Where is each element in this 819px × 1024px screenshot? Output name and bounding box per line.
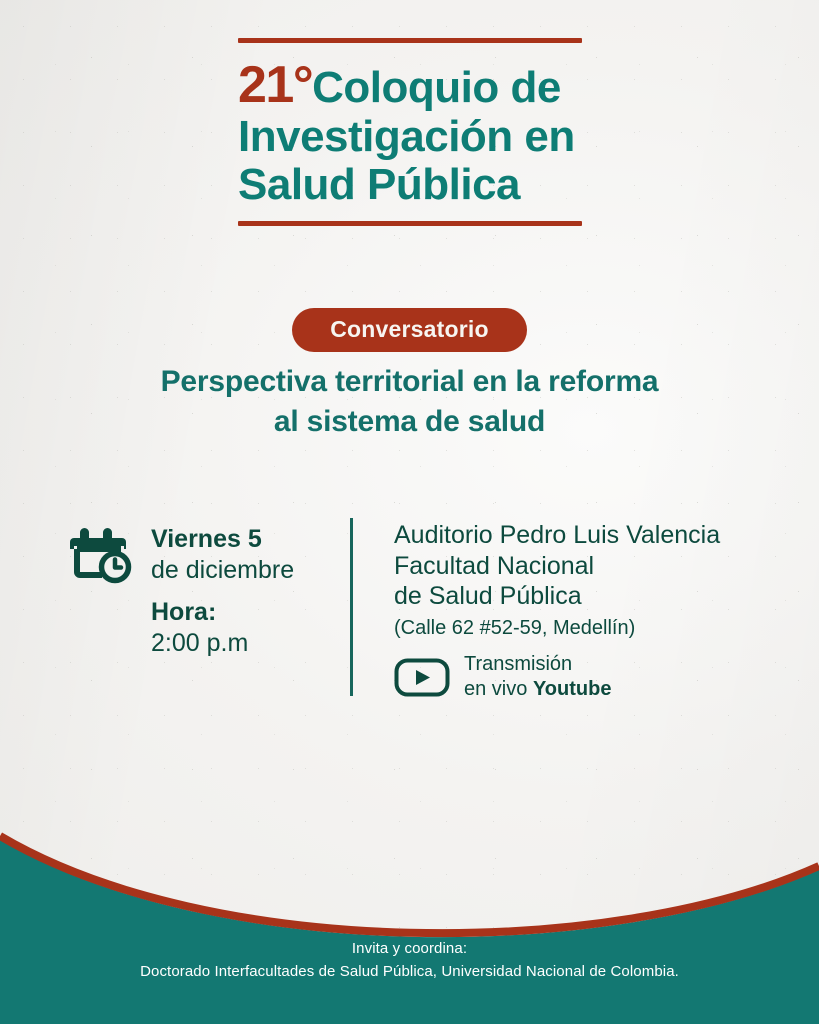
badge-container: Conversatorio	[0, 308, 819, 352]
venue-line-2: Facultad Nacional	[394, 551, 794, 582]
date-day: Viernes 5	[151, 524, 331, 555]
time-value: 2:00 p.m	[151, 628, 331, 659]
footer-line-1: Invita y coordina:	[0, 938, 819, 961]
time-label: Hora:	[151, 597, 331, 628]
livestream-platform: Youtube	[533, 678, 612, 700]
event-type-badge: Conversatorio	[292, 308, 527, 352]
livestream-line-2: en vivo Youtube	[464, 677, 611, 702]
subtitle-line-2: al sistema de salud	[0, 402, 819, 442]
date-month: de diciembre	[151, 555, 331, 586]
date-time-block: Viernes 5 de diciembre Hora: 2:00 p.m	[151, 524, 331, 658]
livestream-block[interactable]: Transmisión en vivo Youtube	[394, 652, 611, 702]
subtitle-line-1: Perspectiva territorial en la reforma	[0, 362, 819, 402]
livestream-prefix: en vivo	[464, 678, 533, 700]
edition-number: 21°	[238, 56, 312, 114]
title-line-2: Investigación en	[238, 113, 582, 161]
footer-line-2: Doctorado Interfacultades de Salud Públi…	[0, 961, 819, 984]
calendar-clock-icon	[70, 526, 132, 584]
page-title: 21°Coloquio de Investigación en Salud Pú…	[238, 57, 582, 208]
youtube-play-icon[interactable]	[394, 658, 450, 697]
venue-line-1: Auditorio Pedro Luis Valencia	[394, 520, 794, 551]
footer-band	[0, 814, 819, 1024]
title-line-3: Salud Pública	[238, 161, 582, 209]
title-block: 21°Coloquio de Investigación en Salud Pú…	[238, 38, 582, 226]
footer-credits: Invita y coordina: Doctorado Interfacult…	[0, 938, 819, 984]
vertical-divider	[350, 518, 353, 696]
event-poster: 21°Coloquio de Investigación en Salud Pú…	[0, 0, 819, 1024]
venue-block: Auditorio Pedro Luis Valencia Facultad N…	[394, 520, 794, 641]
livestream-text: Transmisión en vivo Youtube	[464, 652, 611, 702]
venue-address: (Calle 62 #52-59, Medellín)	[394, 615, 794, 641]
venue-line-3: de Salud Pública	[394, 581, 794, 612]
title-rule-top	[238, 38, 582, 43]
title-line-1: Coloquio de	[312, 63, 561, 112]
livestream-line-1: Transmisión	[464, 652, 611, 677]
title-rule-bottom	[238, 221, 582, 226]
event-subtitle: Perspectiva territorial en la reforma al…	[0, 362, 819, 441]
